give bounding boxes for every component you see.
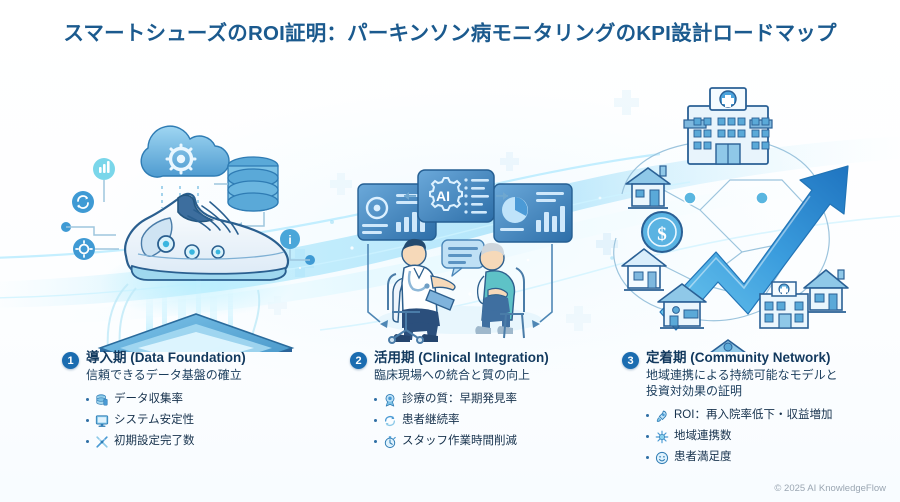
phase-1-header: 1 導入期 (Data Foundation) 信頼できるデータ基盤の確立 <box>62 350 352 384</box>
phase-1-badge: 1 <box>62 352 79 369</box>
dashboard-panel-right <box>494 184 572 242</box>
title-bar: スマートシューズのROI証明：パーキンソン病モニタリングのKPI設計ロードマップ <box>0 16 900 46</box>
sync-badge-icon <box>72 191 94 213</box>
phase-3-subtitle: 地域連携による持続可能なモデルと 投資対効果の証明 <box>646 368 887 400</box>
kpi-item: 患者継続率 <box>374 414 620 428</box>
bullet-dot <box>646 435 649 438</box>
phase-2-title: 活用期 (Clinical Integration) <box>374 350 620 367</box>
phase-column-3: 3 定着期 (Community Network) 地域連携による持続可能なモデ… <box>622 350 887 472</box>
kpi-item: 患者満足度 <box>646 451 887 465</box>
phase-2-subtitle: 臨床現場への統合と質の向上 <box>374 368 620 384</box>
kpi-item: ROI：再入院率低下・収益増加 <box>646 409 887 423</box>
bullet-dot <box>374 419 377 422</box>
phase-3-kpi-list: ROI：再入院率低下・収益増加 <box>646 409 887 465</box>
scene-community-network-growth: $ <box>614 88 848 352</box>
phase-1-kpi-list: データ収集率 システム安定性 <box>86 393 352 449</box>
rosette-icon <box>383 393 397 407</box>
illustration-stage: i <box>0 62 900 342</box>
dollar-symbol: $ <box>657 224 667 245</box>
database-icon <box>95 393 109 407</box>
kpi-item: 診療の質：早期発見率 <box>374 393 620 407</box>
rocket-icon <box>655 409 669 423</box>
stopwatch-icon <box>383 435 397 449</box>
phase-2-header: 2 活用期 (Clinical Integration) 臨床現場への統合と質の… <box>350 350 620 384</box>
bullet-dot <box>374 440 377 443</box>
phase-column-2: 2 活用期 (Clinical Integration) 臨床現場への統合と質の… <box>350 350 620 456</box>
kpi-label: システム安定性 <box>114 415 194 427</box>
kpi-item: システム安定性 <box>86 414 352 428</box>
phase-1-title: 導入期 (Data Foundation) <box>86 350 352 367</box>
svg-text:i: i <box>288 233 291 247</box>
copyright-footer: © 2025 AI KnowledgeFlow <box>774 483 886 494</box>
monitor-icon <box>95 414 109 428</box>
cycle-icon <box>383 414 397 428</box>
chart-badge-icon <box>93 158 115 180</box>
bullet-dot <box>86 419 89 422</box>
illustration-svg: i <box>0 62 900 352</box>
house-icon-2 <box>622 249 666 290</box>
kpi-item: データ収集率 <box>86 393 352 407</box>
phase-column-1: 1 導入期 (Data Foundation) 信頼できるデータ基盤の確立 デー… <box>62 350 352 456</box>
bullet-dot <box>374 398 377 401</box>
cloud-gear-icon <box>141 126 229 177</box>
page-title: スマートシューズのROI証明：パーキンソン病モニタリングのKPI設計ロードマップ <box>0 16 900 46</box>
kpi-item: 地域連携数 <box>646 430 887 444</box>
phase-1-subtitle: 信頼できるデータ基盤の確立 <box>86 368 352 384</box>
phase-3-header: 3 定着期 (Community Network) 地域連携による持続可能なモデ… <box>622 350 887 400</box>
phase-2-badge: 2 <box>350 352 367 369</box>
hospital-building <box>684 88 772 164</box>
dollar-coin-icon: $ <box>642 212 682 252</box>
phase-3-title: 定着期 (Community Network) <box>646 350 887 367</box>
kpi-label: ROI：再入院率低下・収益増加 <box>674 410 832 422</box>
kpi-item: スタッフ作業時間削減 <box>374 435 620 449</box>
network-burst-icon <box>655 430 669 444</box>
kpi-label: 地域連携数 <box>674 431 732 443</box>
kpi-item: 初期設定完了数 <box>86 435 352 449</box>
phase-legend: 1 導入期 (Data Foundation) 信頼できるデータ基盤の確立 デー… <box>0 350 900 480</box>
kpi-label: データ収集率 <box>114 394 183 406</box>
bullet-dot <box>86 440 89 443</box>
ai-panel: AI <box>418 170 494 222</box>
infographic-poster: スマートシューズのROI証明：パーキンソン病モニタリングのKPI設計ロードマップ <box>0 0 900 502</box>
bullet-dot <box>86 398 89 401</box>
smiley-icon <box>655 451 669 465</box>
phase-3-badge: 3 <box>622 352 639 369</box>
kpi-label: 初期設定完了数 <box>114 436 195 448</box>
bullet-dot <box>646 414 649 417</box>
phase-2-kpi-list: 診療の質：早期発見率 患者継続率 <box>374 393 620 449</box>
bullet-dot <box>646 456 649 459</box>
kpi-label: 患者継続率 <box>402 415 460 427</box>
tools-icon <box>95 435 109 449</box>
ai-panel-label: AI <box>436 188 450 204</box>
isometric-platform <box>100 314 292 352</box>
settings-badge-icon <box>73 238 95 260</box>
kpi-label: スタッフ作業時間削減 <box>402 436 517 448</box>
kpi-label: 診療の質：早期発見率 <box>402 394 517 406</box>
house-icon-4 <box>804 270 848 312</box>
info-badge-icon: i <box>280 229 300 249</box>
kpi-label: 患者満足度 <box>674 452 732 464</box>
database-cylinder-icon <box>228 157 278 211</box>
